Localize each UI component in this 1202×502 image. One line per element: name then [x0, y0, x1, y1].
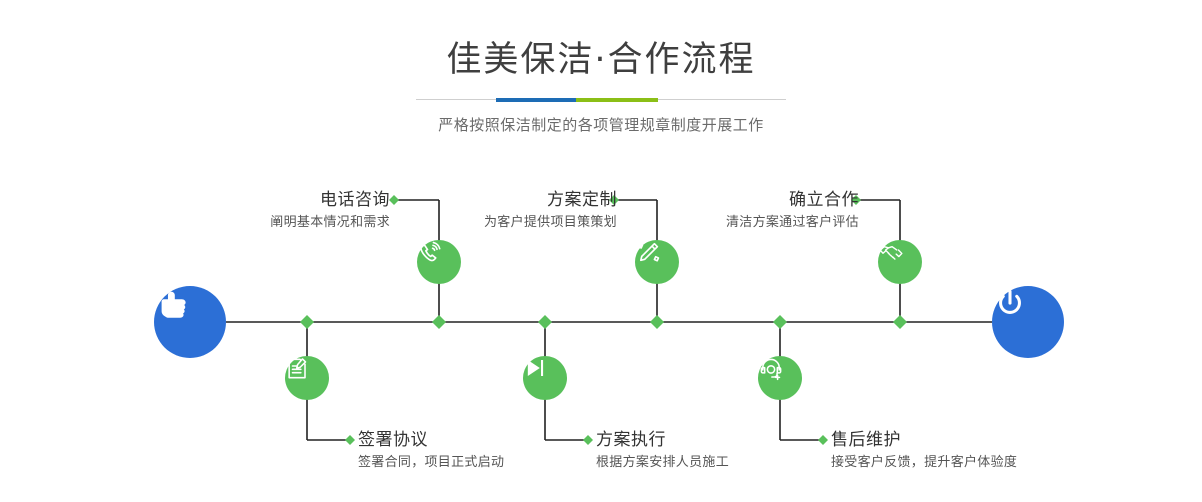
step-node-3[interactable] — [635, 240, 679, 284]
step-node-2[interactable] — [285, 356, 329, 400]
step-desc-3: 为客户提供项目策策划 — [484, 213, 617, 232]
process-flow-diagram: 电话咨询 阐明基本情况和需求 方案定制 为客户提供项目策策划 — [0, 0, 1202, 502]
step-title-6: 售后维护 — [831, 429, 1017, 451]
step-label-2: 签署协议 签署合同，项目正式启动 — [358, 429, 504, 472]
step-node-6[interactable] — [758, 356, 802, 400]
step-title-1: 电话咨询 — [270, 189, 390, 211]
step-title-4: 方案执行 — [596, 429, 729, 451]
flow-end-node[interactable] — [992, 286, 1064, 358]
flow-start-node[interactable] — [154, 286, 226, 358]
step-label-4: 方案执行 根据方案安排人员施工 — [596, 429, 729, 472]
step-node-1[interactable] — [417, 240, 461, 284]
step-label-5: 确立合作 清洁方案通过客户评估 — [726, 189, 859, 232]
step-label-1: 电话咨询 阐明基本情况和需求 — [270, 189, 390, 232]
step-desc-6: 接受客户反馈，提升客户体验度 — [831, 453, 1017, 472]
step-title-2: 签署协议 — [358, 429, 504, 451]
step-desc-5: 清洁方案通过客户评估 — [726, 213, 859, 232]
step-node-4[interactable] — [523, 356, 567, 400]
step-label-3: 方案定制 为客户提供项目策策划 — [484, 189, 617, 232]
flow-connector-lines — [0, 0, 1202, 502]
step-label-6: 售后维护 接受客户反馈，提升客户体验度 — [831, 429, 1017, 472]
step-node-5[interactable] — [878, 240, 922, 284]
step-title-3: 方案定制 — [484, 189, 617, 211]
step-desc-4: 根据方案安排人员施工 — [596, 453, 729, 472]
step-title-5: 确立合作 — [726, 189, 859, 211]
step-desc-2: 签署合同，项目正式启动 — [358, 453, 504, 472]
step-desc-1: 阐明基本情况和需求 — [270, 213, 390, 232]
